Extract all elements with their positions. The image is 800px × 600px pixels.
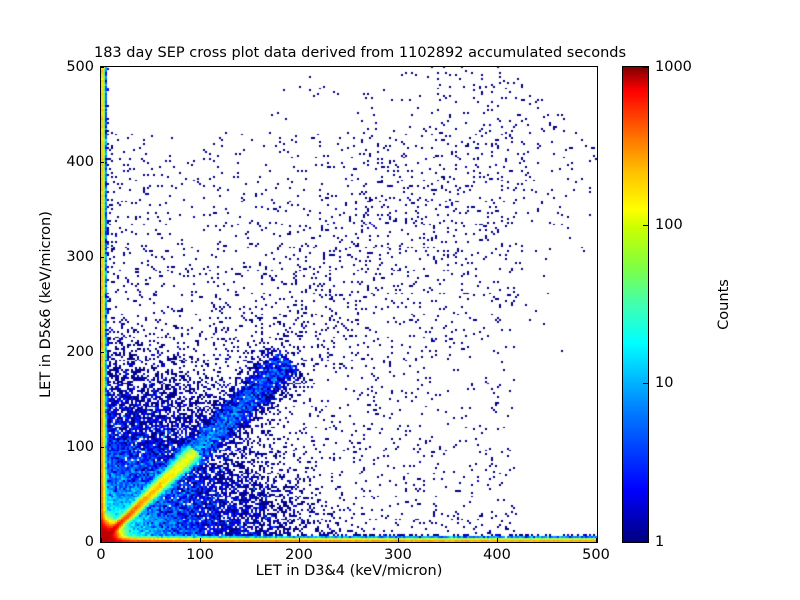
xtick-label-500: 500	[582, 547, 610, 563]
xtick-mark-500	[596, 538, 597, 542]
colorbar-gradient	[623, 67, 648, 542]
colorbar	[622, 66, 649, 543]
colorbar-tick-label-100: 100	[655, 217, 683, 233]
colorbar-tick-label-10: 10	[655, 375, 673, 391]
xtick-mark-200	[299, 538, 300, 542]
ytick-label-300: 300	[50, 249, 94, 265]
ytick-mark-300	[100, 257, 104, 258]
ytick-mark-100	[100, 447, 104, 448]
ytick-mark-400	[100, 162, 104, 163]
colorbar-tick-mark-1000	[643, 67, 649, 68]
chart-title-line-1: 183 day SEP cross plot data derived from…	[0, 44, 720, 63]
xtick-label-300: 300	[384, 547, 412, 563]
ytick-mark-500	[100, 67, 104, 68]
colorbar-tick-mark-10	[643, 383, 649, 384]
ytick-label-0: 0	[50, 534, 94, 550]
scatter-heatmap	[101, 67, 597, 542]
xtick-mark-400	[497, 538, 498, 542]
ytick-label-100: 100	[50, 439, 94, 455]
ytick-mark-200	[100, 352, 104, 353]
colorbar-label: Counts	[716, 66, 732, 543]
xtick-mark-100	[200, 538, 201, 542]
x-axis-label: LET in D3&4 (keV/micron)	[100, 563, 598, 579]
xtick-label-200: 200	[285, 547, 313, 563]
xtick-mark-300	[398, 538, 399, 542]
ytick-label-200: 200	[50, 344, 94, 360]
xtick-label-100: 100	[186, 547, 214, 563]
xtick-label-400: 400	[483, 547, 511, 563]
plot-area	[100, 66, 598, 543]
y-axis-label: LET in D5&6 (keV/micron)	[38, 66, 54, 543]
ytick-mark-0	[100, 542, 104, 543]
xtick-label-0: 0	[96, 547, 105, 563]
colorbar-tick-label-1: 1	[655, 534, 664, 550]
figure-canvas: 183 day SEP cross plot data derived from…	[0, 0, 800, 600]
colorbar-tick-mark-100	[643, 225, 649, 226]
colorbar-tick-label-1000: 1000	[655, 59, 692, 75]
ytick-label-500: 500	[50, 59, 94, 75]
ytick-label-400: 400	[50, 154, 94, 170]
colorbar-tick-mark-1	[643, 542, 649, 543]
